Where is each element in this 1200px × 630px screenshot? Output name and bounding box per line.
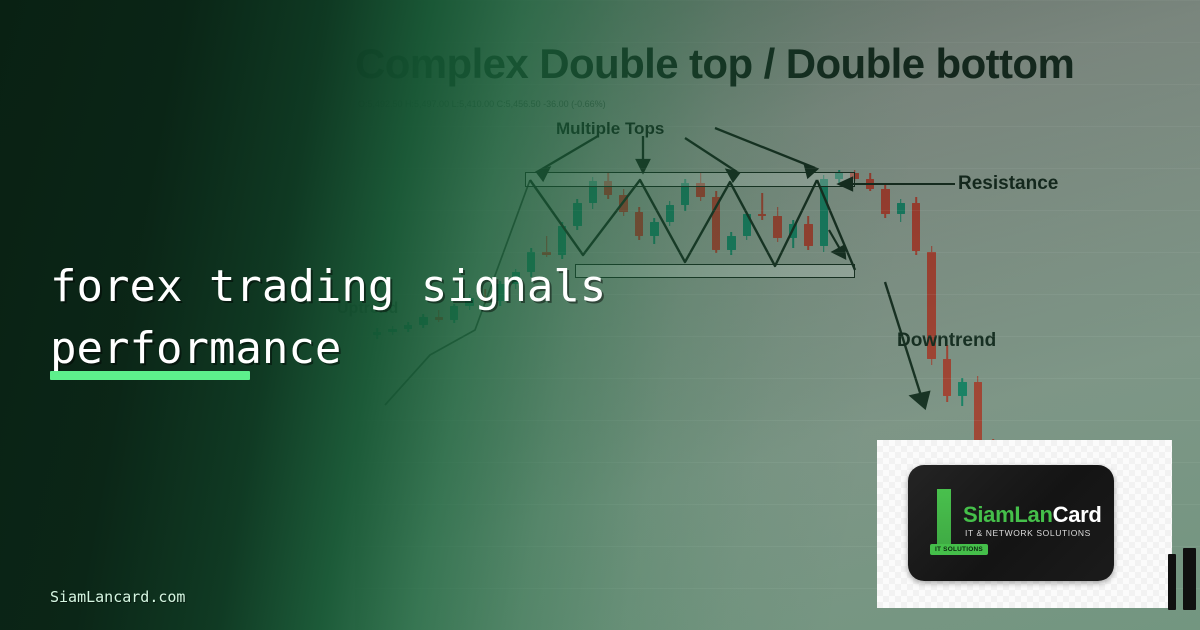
screenshot-stage: Multiple Tops Resistance Downtrend Uptre… — [0, 0, 1200, 630]
edge-glyph-1 — [1168, 554, 1176, 610]
cropped-edge-glyphs — [1168, 540, 1200, 610]
siamlancard-logo: SiamLanCard IT & NETWORK SOLUTIONS IT SO… — [908, 465, 1114, 581]
headline-line-1: forex trading signals — [50, 256, 750, 318]
accent-underline — [50, 371, 250, 380]
logo-badge: IT SOLUTIONS — [930, 544, 988, 555]
logo-word-green: SiamLan — [963, 502, 1053, 527]
edge-glyph-2 — [1183, 548, 1196, 610]
logo-word-white: Card — [1053, 502, 1102, 527]
headline: forex trading signals performance — [50, 256, 750, 380]
logo-tagline: IT & NETWORK SOLUTIONS — [965, 528, 1091, 538]
logo-wordmark: SiamLanCard — [963, 502, 1102, 528]
site-watermark: SiamLancard.com — [50, 588, 185, 606]
